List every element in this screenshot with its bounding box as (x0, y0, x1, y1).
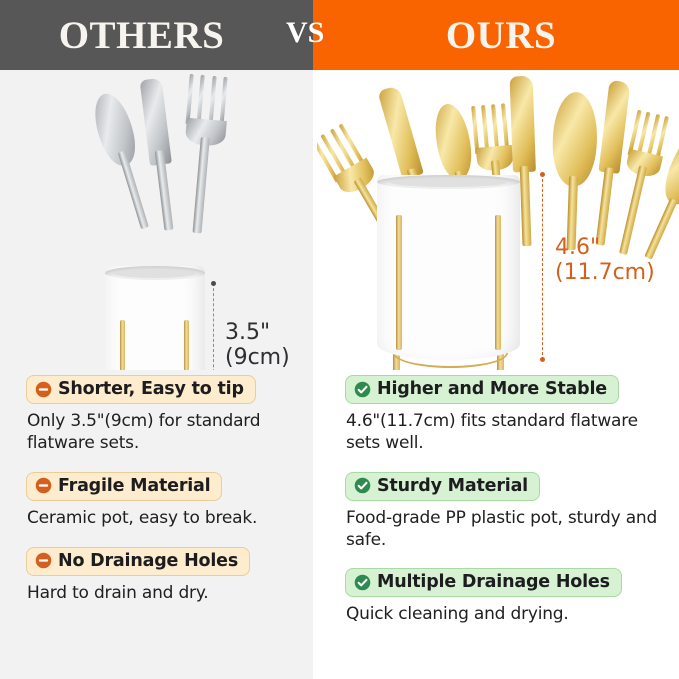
knife-blade (509, 76, 535, 173)
feature-item: Fragile Material Ceramic pot, easy to br… (26, 472, 296, 530)
others-product-image: 3.5" (9cm) (0, 70, 313, 370)
badge-label: Multiple Drainage Holes (377, 572, 610, 592)
badge-label: No Drainage Holes (58, 551, 238, 571)
feature-item: Multiple Drainage Holes Quick cleaning a… (345, 568, 675, 626)
spoon-bowl (88, 89, 142, 170)
fork-tines (184, 74, 231, 139)
stand-leg-front-right (495, 215, 501, 350)
fork-handle (193, 137, 210, 233)
pot-rim-inner (390, 178, 507, 187)
dimension-line (542, 174, 543, 360)
feature-description: 4.6"(11.7cm) fits standard flatware sets… (346, 411, 675, 455)
dimension-dot-bottom (540, 357, 545, 362)
dimension-value: 3.5" (9cm) (225, 321, 290, 370)
others-feature-list: Shorter, Easy to tip Only 3.5"(9cm) for … (26, 375, 296, 621)
header-ours-title: OURS (446, 16, 556, 55)
dimension-dot-top (211, 281, 216, 286)
badge-label: Higher and More Stable (377, 379, 607, 399)
feature-item: No Drainage Holes Hard to drain and dry. (26, 547, 296, 605)
dimension-metric: (11.7cm) (555, 261, 655, 286)
fork-tines (625, 110, 673, 173)
ours-feature-list: Higher and More Stable 4.6"(11.7cm) fits… (345, 375, 675, 643)
feature-item: Sturdy Material Food-grade PP plastic po… (345, 472, 675, 552)
status-badge: No Drainage Holes (26, 547, 250, 576)
feature-item: Higher and More Stable 4.6"(11.7cm) fits… (345, 375, 675, 455)
dimension-inches: 3.5" (225, 321, 290, 346)
pot-rim (105, 266, 205, 280)
dimension-value: 4.6" (11.7cm) (555, 236, 655, 285)
dimension-metric: (9cm) (225, 346, 290, 370)
spoon-bowl (430, 101, 476, 182)
status-badge: Multiple Drainage Holes (345, 568, 622, 597)
header-others-side: OTHERS (0, 0, 313, 70)
versus-label: VS (286, 18, 324, 48)
fork-tines (471, 103, 514, 164)
dimension-line (213, 283, 214, 370)
badge-label: Sturdy Material (377, 476, 528, 496)
dimension-inches: 4.6" (555, 236, 655, 261)
ours-product-image: 4.6" (11.7cm) (317, 70, 679, 370)
header-others-title: OTHERS (59, 16, 225, 55)
feature-description: Only 3.5"(9cm) for standard flatware set… (27, 411, 296, 455)
stand-leg-front-left (396, 215, 402, 350)
spoon-bowl (551, 91, 598, 186)
status-badge: Fragile Material (26, 472, 222, 501)
minus-circle-icon (35, 477, 52, 494)
feature-item: Shorter, Easy to tip Only 3.5"(9cm) for … (26, 375, 296, 455)
comparison-header: OTHERS OURS (0, 0, 679, 70)
minus-circle-icon (35, 552, 52, 569)
status-badge: Higher and More Stable (345, 375, 619, 404)
stand-leg-front-right (184, 320, 189, 370)
feature-description: Ceramic pot, easy to break. (27, 508, 296, 530)
check-circle-icon (354, 477, 371, 494)
ours-panel: 4.6" (11.7cm) Higher and More Stable 4.6… (317, 70, 679, 679)
status-badge: Shorter, Easy to tip (26, 375, 256, 404)
others-panel: 3.5" (9cm) Shorter, Easy to tip Only 3.5… (0, 70, 313, 679)
stand-leg-front-left (120, 320, 125, 370)
knife-blade (377, 85, 424, 180)
comparison-infographic: OTHERS OURS VS (0, 0, 679, 679)
fork-tines (317, 121, 375, 191)
pot-rim (377, 175, 520, 189)
feature-description: Quick cleaning and drying. (346, 604, 675, 626)
status-badge: Sturdy Material (345, 472, 540, 501)
knife-handle (519, 166, 531, 246)
spoon-handle (118, 150, 149, 229)
feature-description: Food-grade PP plastic pot, sturdy and sa… (346, 508, 675, 552)
pot-rim-inner (114, 269, 196, 278)
badge-label: Shorter, Easy to tip (58, 379, 244, 399)
minus-circle-icon (35, 381, 52, 398)
dimension-dot-top (540, 172, 545, 177)
silver-fork (176, 74, 232, 235)
feature-description: Hard to drain and dry. (27, 583, 296, 605)
check-circle-icon (354, 381, 371, 398)
header-ours-side: OURS (313, 0, 679, 70)
badge-label: Fragile Material (58, 476, 210, 496)
check-circle-icon (354, 574, 371, 591)
